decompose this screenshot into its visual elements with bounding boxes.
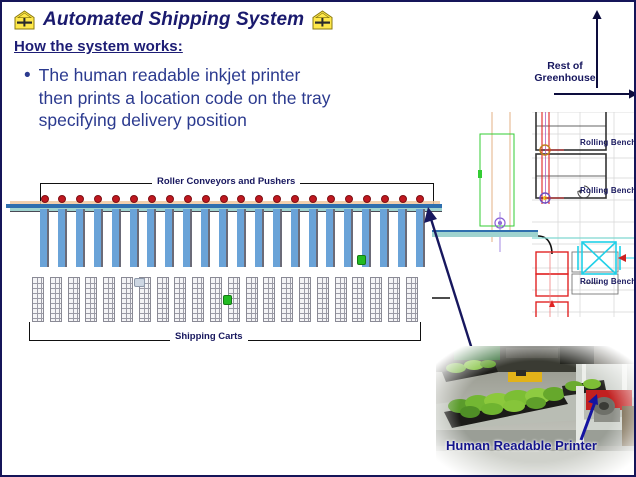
- conveyor-bar-shadow: [333, 209, 335, 267]
- cart-grid-line: [201, 278, 202, 321]
- conveyor-bar-shadow: [172, 209, 174, 267]
- roller-conveyors-label: Roller Conveyors and Pushers: [152, 176, 300, 187]
- bullet-marker: •: [24, 64, 31, 132]
- shipping-cart[interactable]: [335, 277, 347, 322]
- cart-grid-line: [255, 278, 256, 321]
- page-title: Automated Shipping System: [43, 9, 304, 31]
- cart-grid-line: [77, 278, 78, 321]
- cart-grid-line: [130, 278, 131, 321]
- shipping-cart[interactable]: [317, 277, 329, 322]
- shipping-cart[interactable]: [32, 277, 44, 322]
- conveyor-bar[interactable]: [291, 209, 298, 267]
- bullet-text: The human readable inkjet printer then p…: [39, 64, 334, 132]
- cart-grid-line: [126, 278, 127, 321]
- pusher-icon[interactable]: [130, 195, 138, 203]
- cart-grid-line: [379, 278, 380, 321]
- conveyor-bar-shadow: [387, 209, 389, 267]
- pusher-icon[interactable]: [166, 195, 174, 203]
- conveyor-bar[interactable]: [380, 209, 387, 267]
- pusher-icon[interactable]: [220, 195, 228, 203]
- pusher-icon[interactable]: [345, 195, 353, 203]
- conveyor-bar-shadow: [83, 209, 85, 267]
- conveyor-bar[interactable]: [237, 209, 244, 267]
- conveyor-bar-shadow: [208, 209, 210, 267]
- shipping-carts-label: Shipping Carts: [170, 331, 248, 342]
- conveyor-bar[interactable]: [112, 209, 119, 267]
- cart-grid-line: [55, 278, 56, 321]
- conveyor-bar-shadow: [190, 209, 192, 267]
- shipping-cart[interactable]: [246, 277, 258, 322]
- arrow-right-icon: [554, 87, 636, 101]
- greenhouse-icon: [312, 10, 333, 30]
- printer-photo-image: [436, 346, 636, 477]
- rolling-benches-label: Rolling Benches: [580, 138, 636, 147]
- conveyor-bar[interactable]: [344, 209, 351, 267]
- printer-photo: [436, 346, 636, 477]
- shipping-cart[interactable]: [157, 277, 169, 322]
- conveyor-bar-shadow: [137, 209, 139, 267]
- conveyor-bar[interactable]: [201, 209, 208, 267]
- conveyor-bar[interactable]: [398, 209, 405, 267]
- shipping-cart[interactable]: [192, 277, 204, 322]
- cart-grid-line: [112, 278, 113, 321]
- greenhouse-icon: [14, 10, 35, 30]
- green-marker-icon: [357, 255, 366, 265]
- cart-grid-line: [344, 278, 345, 321]
- arrow-up-icon: [590, 10, 604, 90]
- conveyor-bar-shadow: [262, 209, 264, 267]
- cart-grid-line: [361, 278, 362, 321]
- cart-grid-line: [166, 278, 167, 321]
- slide-canvas: Automated Shipping System How the system…: [0, 0, 636, 477]
- conveyor-bar-shadow: [65, 209, 67, 267]
- conveyor-bar[interactable]: [273, 209, 280, 267]
- conveyor-bar[interactable]: [147, 209, 154, 267]
- pusher-icon[interactable]: [184, 195, 192, 203]
- bullet-item: • The human readable inkjet printer then…: [24, 64, 334, 132]
- cart-grid-line: [237, 278, 238, 321]
- conveyor-bar-shadow: [280, 209, 282, 267]
- cart-grid-line: [197, 278, 198, 321]
- conveyor-bar-shadow: [101, 209, 103, 267]
- conveyor-bar[interactable]: [309, 209, 316, 267]
- conveyor-bar[interactable]: [40, 209, 47, 267]
- gray-marker-icon: [134, 278, 145, 287]
- pusher-icon[interactable]: [148, 195, 156, 203]
- shipping-cart[interactable]: [85, 277, 97, 322]
- rolling-benches-label: Rolling Benches: [580, 186, 636, 195]
- shipping-cart[interactable]: [68, 277, 80, 322]
- cart-grid-line: [215, 278, 216, 321]
- cart-grid-line: [162, 278, 163, 321]
- cart-grid-line: [148, 278, 149, 321]
- conveyor-bar-shadow: [154, 209, 156, 267]
- cart-grid-line: [251, 278, 252, 321]
- conveyor-bar-shadow: [405, 209, 407, 267]
- pusher-icon[interactable]: [399, 195, 407, 203]
- conveyor-bar[interactable]: [94, 209, 101, 267]
- cart-grid-line: [219, 278, 220, 321]
- cart-grid-line: [286, 278, 287, 321]
- conveyor-bar[interactable]: [219, 209, 226, 267]
- pusher-icon[interactable]: [309, 195, 317, 203]
- cart-grid-line: [108, 278, 109, 321]
- shipping-cart[interactable]: [370, 277, 382, 322]
- cart-grid-line: [272, 278, 273, 321]
- shipping-cart[interactable]: [352, 277, 364, 322]
- cart-grid-line: [375, 278, 376, 321]
- conveyor-bar[interactable]: [58, 209, 65, 267]
- conveyor-bar[interactable]: [326, 209, 333, 267]
- pusher-icon[interactable]: [327, 195, 335, 203]
- conveyor-bar-shadow: [244, 209, 246, 267]
- shipping-cart[interactable]: [281, 277, 293, 322]
- shipping-cart[interactable]: [388, 277, 400, 322]
- shipping-carts-area: Shipping Carts: [2, 277, 472, 347]
- cart-grid-line: [59, 278, 60, 321]
- cart-grid-line: [340, 278, 341, 321]
- cart-grid-line: [397, 278, 398, 321]
- cart-grid-line: [415, 278, 416, 321]
- cart-grid-line: [304, 278, 305, 321]
- printer-arrow-icon: [578, 392, 600, 442]
- shipping-cart[interactable]: [103, 277, 115, 322]
- cart-grid-line: [94, 278, 95, 321]
- cart-grid-line: [322, 278, 323, 321]
- shipping-cart[interactable]: [210, 277, 222, 322]
- conveyor-bar-shadow: [351, 209, 353, 267]
- conveyor-bar-shadow: [226, 209, 228, 267]
- conveyor-bar-shadow: [316, 209, 318, 267]
- human-readable-printer-label: Human Readable Printer: [446, 438, 597, 453]
- cart-grid-line: [326, 278, 327, 321]
- conveyor-bar[interactable]: [255, 209, 262, 267]
- slide-title-row: Automated Shipping System: [14, 6, 354, 34]
- cart-grid-line: [357, 278, 358, 321]
- conveyor-bar[interactable]: [76, 209, 83, 267]
- conveyor-bar[interactable]: [165, 209, 172, 267]
- cart-grid-line: [393, 278, 394, 321]
- conveyor-bar[interactable]: [130, 209, 137, 267]
- shipping-cart[interactable]: [50, 277, 62, 322]
- conveyor-bar-shadow: [298, 209, 300, 267]
- conveyor-bar-shadow: [47, 209, 49, 267]
- shipping-cart[interactable]: [406, 277, 418, 322]
- conveyor-bar[interactable]: [183, 209, 190, 267]
- rolling-benches-label: Rolling Benches: [580, 277, 636, 286]
- cart-grid-line: [41, 278, 42, 321]
- cart-grid-line: [268, 278, 269, 321]
- cart-grid-line: [290, 278, 291, 321]
- cart-grid-line: [73, 278, 74, 321]
- cart-grid-line: [233, 278, 234, 321]
- cart-grid-line: [308, 278, 309, 321]
- pusher-icon[interactable]: [363, 195, 371, 203]
- shipping-cart[interactable]: [299, 277, 311, 322]
- pusher-icon[interactable]: [202, 195, 210, 203]
- cart-grid-line: [183, 278, 184, 321]
- shipping-cart[interactable]: [263, 277, 275, 322]
- pointer-arrow-icon: [418, 207, 488, 362]
- pusher-icon[interactable]: [381, 195, 389, 203]
- cart-grid-line: [90, 278, 91, 321]
- conveyor-bar-shadow: [119, 209, 121, 267]
- green-marker-icon: [223, 295, 232, 305]
- shipping-cart[interactable]: [174, 277, 186, 322]
- shipping-cart[interactable]: [121, 277, 133, 322]
- pusher-icon[interactable]: [41, 195, 49, 203]
- cart-grid-line: [37, 278, 38, 321]
- cart-grid-line: [179, 278, 180, 321]
- subtitle: How the system works:: [14, 38, 183, 55]
- conveyor-bar-shadow: [369, 209, 371, 267]
- cart-grid-line: [411, 278, 412, 321]
